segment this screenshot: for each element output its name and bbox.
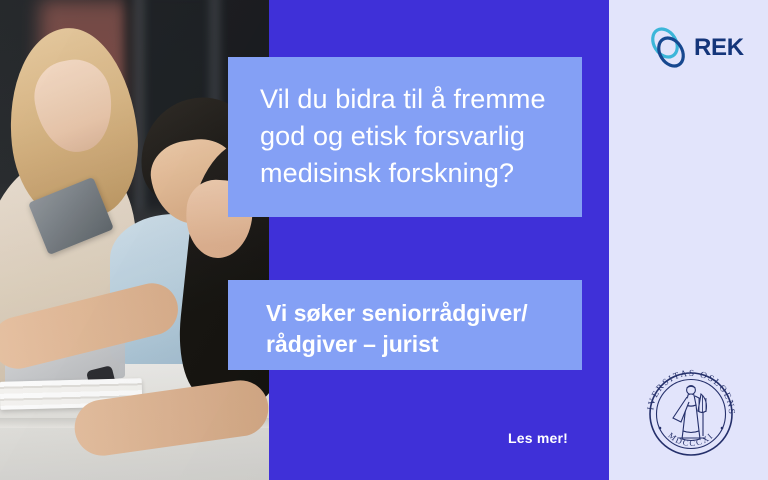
headline-card: Vil du bidra til å fremme god og etisk f… [228, 57, 582, 217]
rek-wordmark: REK [694, 36, 744, 60]
job-title-card: Vi søker seniorrådgiver/ rådgiver – juri… [228, 280, 582, 370]
interlocking-ellipses-icon [648, 26, 690, 70]
uio-seal-icon: UNIVERSITAS OSLOENSIS MDCCCXI [639, 362, 743, 466]
apollo-with-lyre-icon [673, 386, 706, 441]
job-title-text: Vi søker seniorrådgiver/ rådgiver – juri… [266, 298, 558, 360]
rek-logo[interactable]: REK [648, 24, 744, 72]
recruitment-banner: Vil du bidra til å fremme god og etisk f… [0, 0, 768, 480]
university-of-oslo-seal: UNIVERSITAS OSLOENSIS MDCCCXI [639, 362, 743, 466]
read-more-link[interactable]: Les mer! [228, 430, 568, 446]
headline-text: Vil du bidra til å fremme god og etisk f… [260, 81, 552, 192]
